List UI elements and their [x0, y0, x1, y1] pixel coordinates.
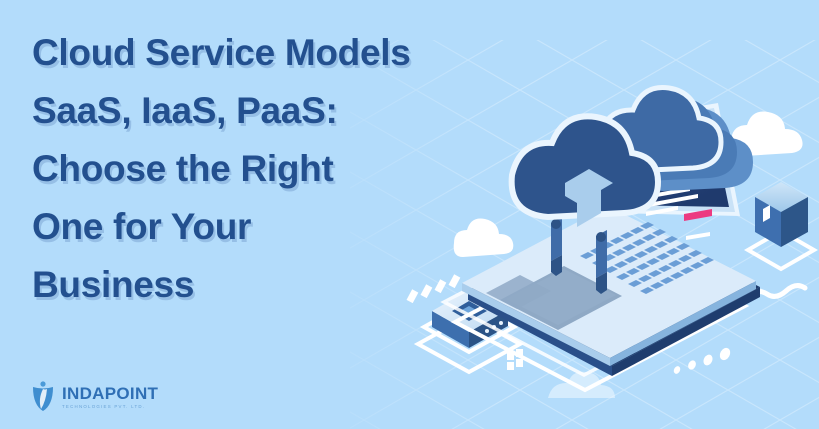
banner: Cloud Service Models SaaS, IaaS, PaaS: C…: [0, 0, 819, 429]
headline-line-5: Business: [32, 256, 502, 314]
headline-line-3: Choose the Right: [32, 140, 502, 198]
page-title: Cloud Service Models SaaS, IaaS, PaaS: C…: [32, 24, 502, 314]
headline-line-1: Cloud Service Models: [32, 24, 502, 82]
isometric-cube: [748, 182, 814, 269]
headline-line-4: One for Your: [32, 198, 502, 256]
logo-brand-text: INDAPOINT: [62, 385, 158, 403]
brand-logo[interactable]: INDAPOINT TECHNOLOGIES PVT. LTD.: [30, 381, 158, 413]
dot-marks-right: [672, 346, 732, 375]
headline-line-2: SaaS, IaaS, PaaS:: [32, 82, 502, 140]
indapoint-leaf-mark: [30, 381, 56, 413]
logo-tagline-text: TECHNOLOGIES PVT. LTD.: [62, 403, 158, 410]
